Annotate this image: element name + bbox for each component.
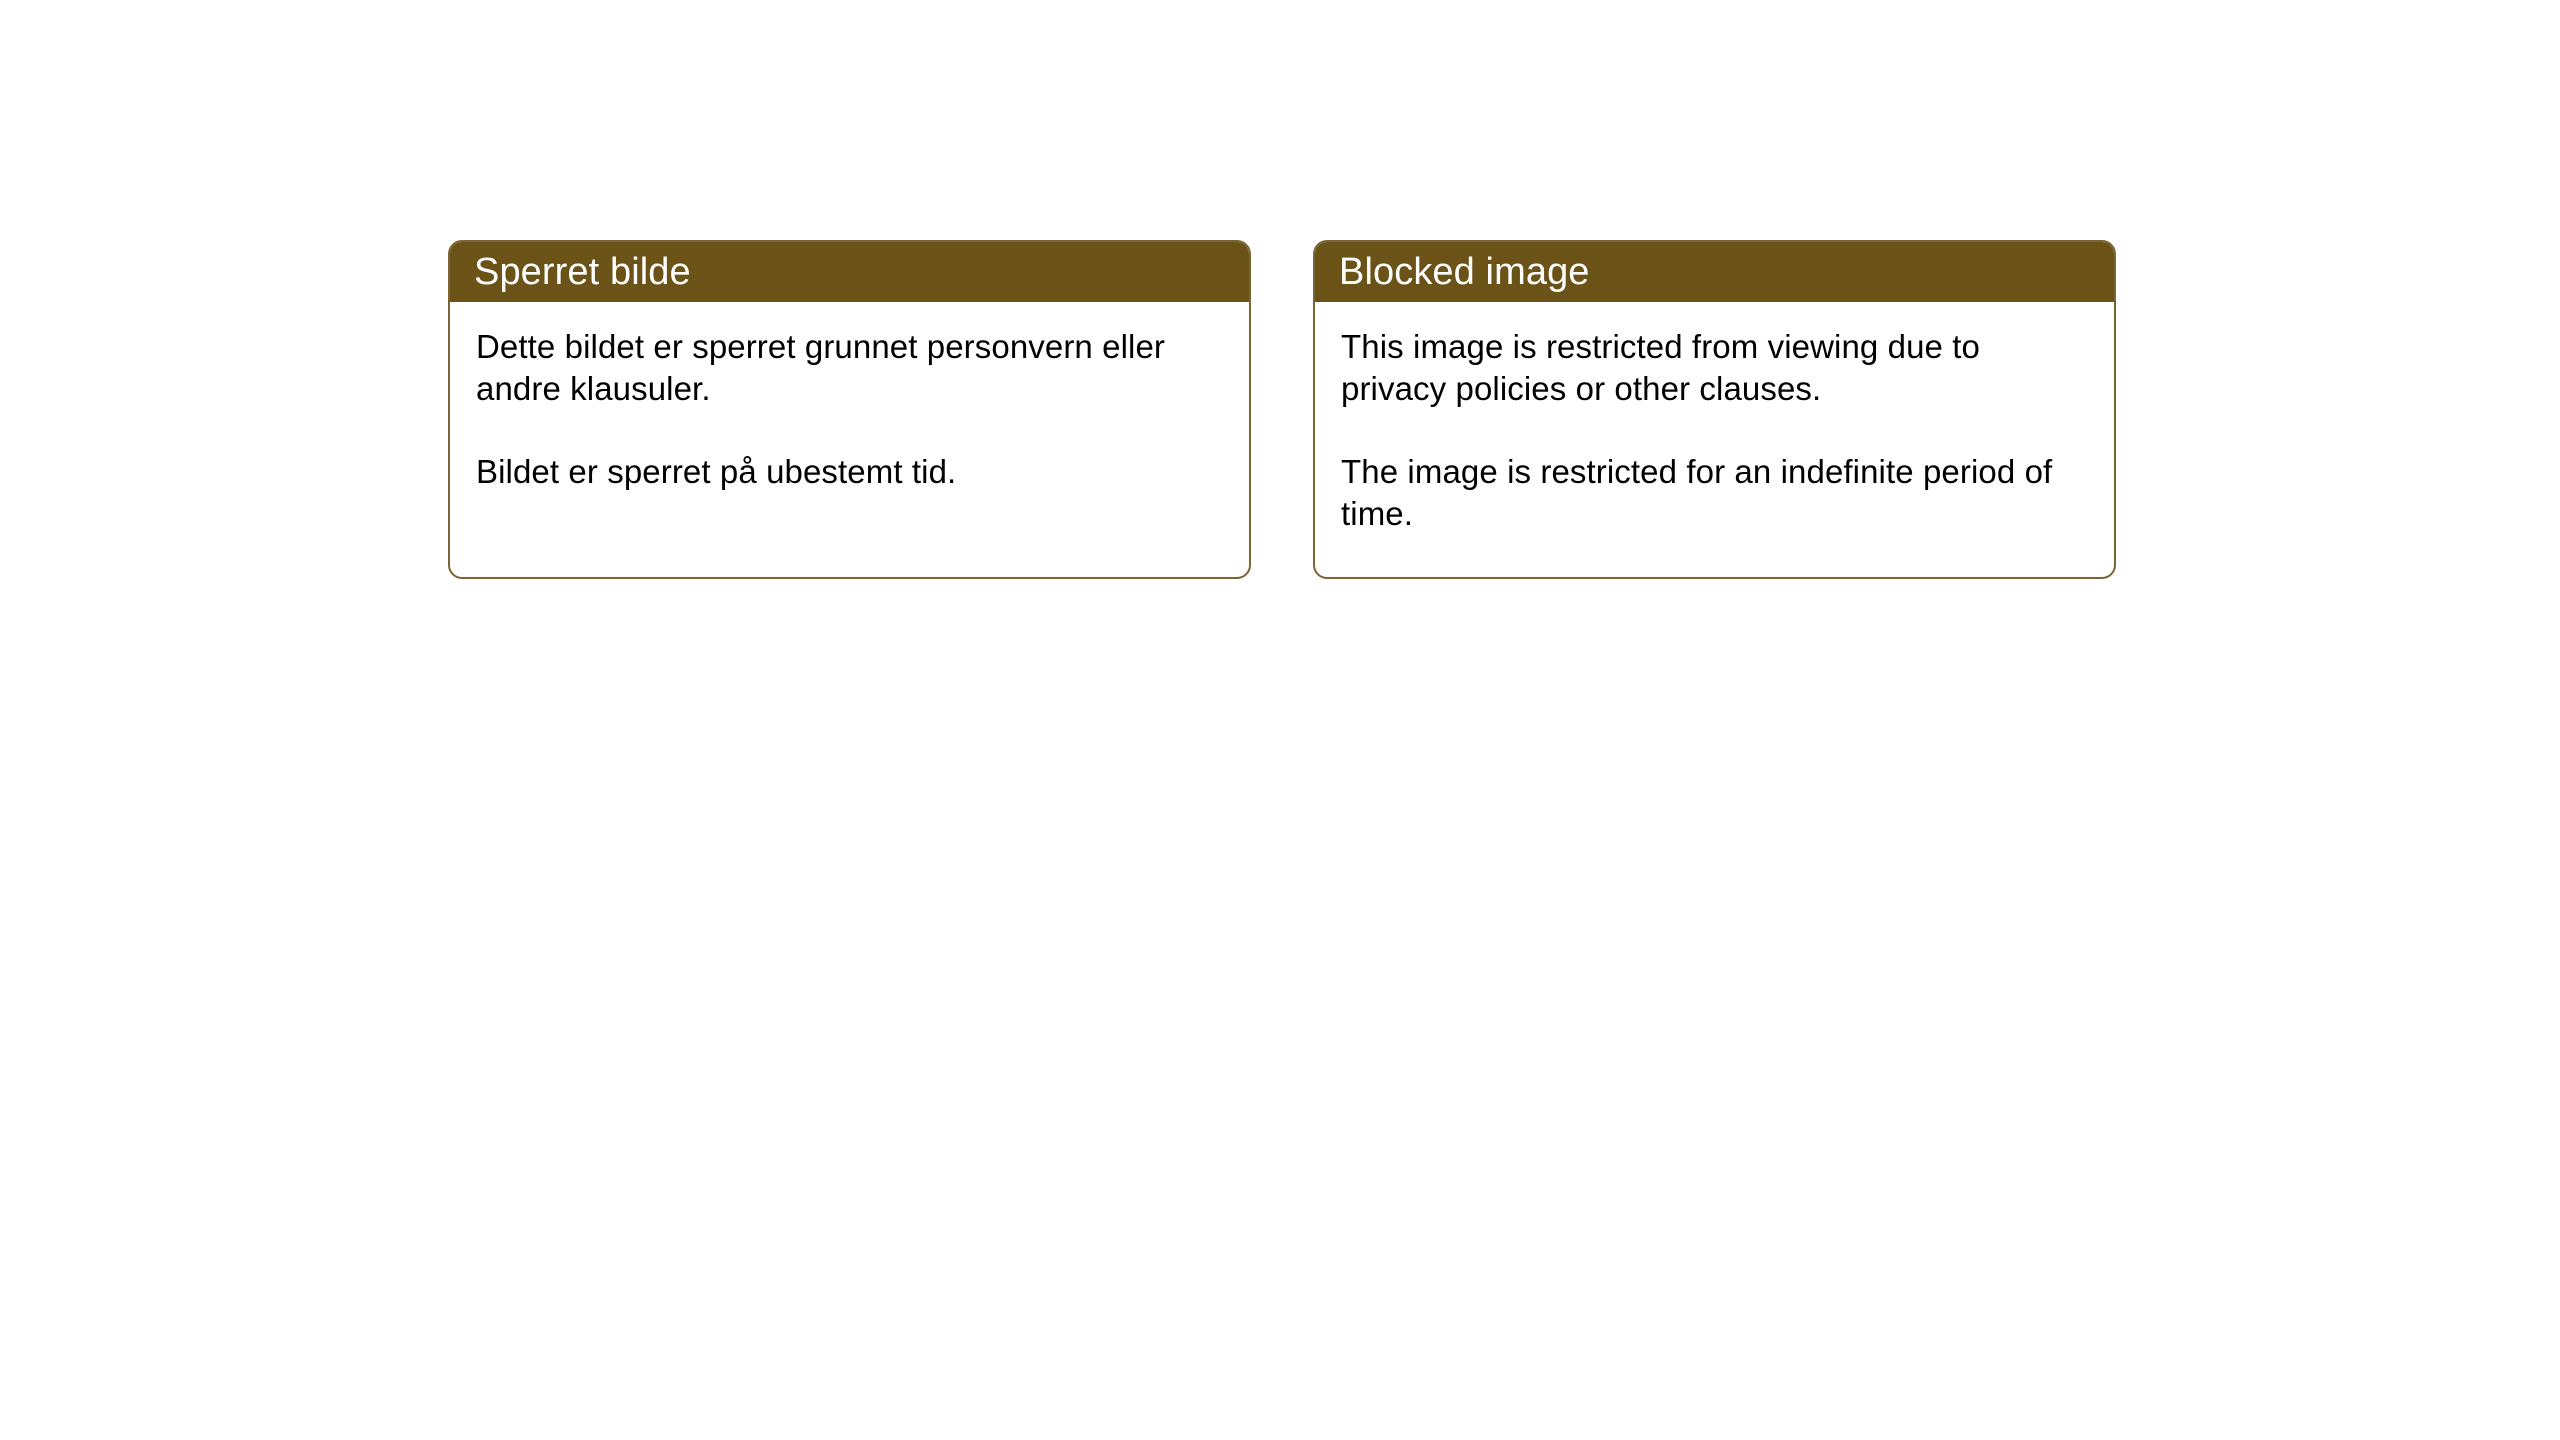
card-body-english: This image is restricted from viewing du… <box>1315 302 2114 534</box>
blocked-image-notice-card-english: Blocked image This image is restricted f… <box>1313 240 2116 579</box>
card-paragraph-privacy-english: This image is restricted from viewing du… <box>1341 326 2092 409</box>
card-title-norwegian: Sperret bilde <box>474 253 691 291</box>
card-body-norwegian: Dette bildet er sperret grunnet personve… <box>450 302 1249 493</box>
card-title-english: Blocked image <box>1339 253 1590 291</box>
card-header-english: Blocked image <box>1315 242 2114 302</box>
card-header-norwegian: Sperret bilde <box>450 242 1249 302</box>
blocked-image-notice-card-norwegian: Sperret bilde Dette bildet er sperret gr… <box>448 240 1251 579</box>
card-paragraph-duration-english: The image is restricted for an indefinit… <box>1341 451 2092 534</box>
card-paragraph-duration-norwegian: Bildet er sperret på ubestemt tid. <box>476 451 1227 493</box>
card-paragraph-privacy-norwegian: Dette bildet er sperret grunnet personve… <box>476 326 1227 409</box>
page-canvas: Sperret bilde Dette bildet er sperret gr… <box>0 0 2560 1440</box>
